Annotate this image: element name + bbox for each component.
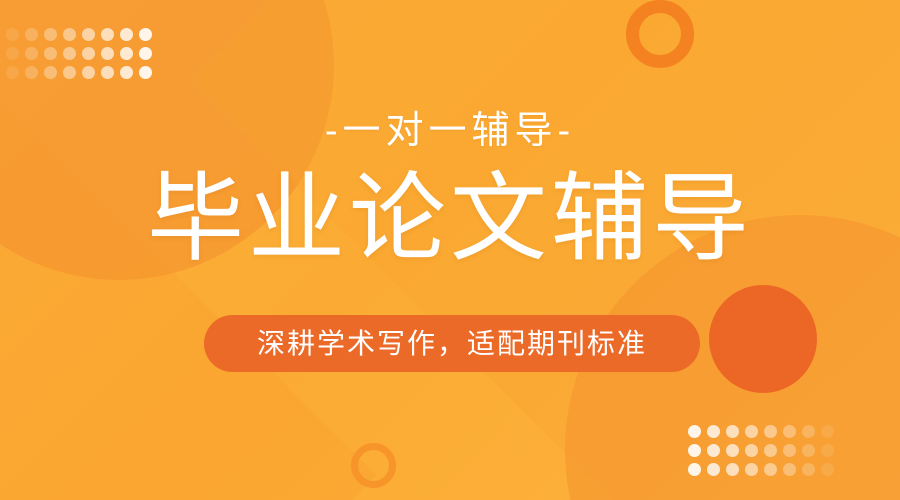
promo-banner: -一对一辅导- 毕业论文辅导 深耕学术写作，适配期刊标准	[0, 0, 900, 500]
banner-headline: 毕业论文辅导	[147, 168, 753, 270]
banner-kicker: -一对一辅导-	[325, 112, 575, 150]
banner-tagline-pill[interactable]: 深耕学术写作，适配期刊标准	[204, 315, 700, 372]
banner-tagline-text: 深耕学术写作，适配期刊标准	[257, 330, 647, 358]
banner-content: -一对一辅导- 毕业论文辅导	[0, 0, 900, 500]
